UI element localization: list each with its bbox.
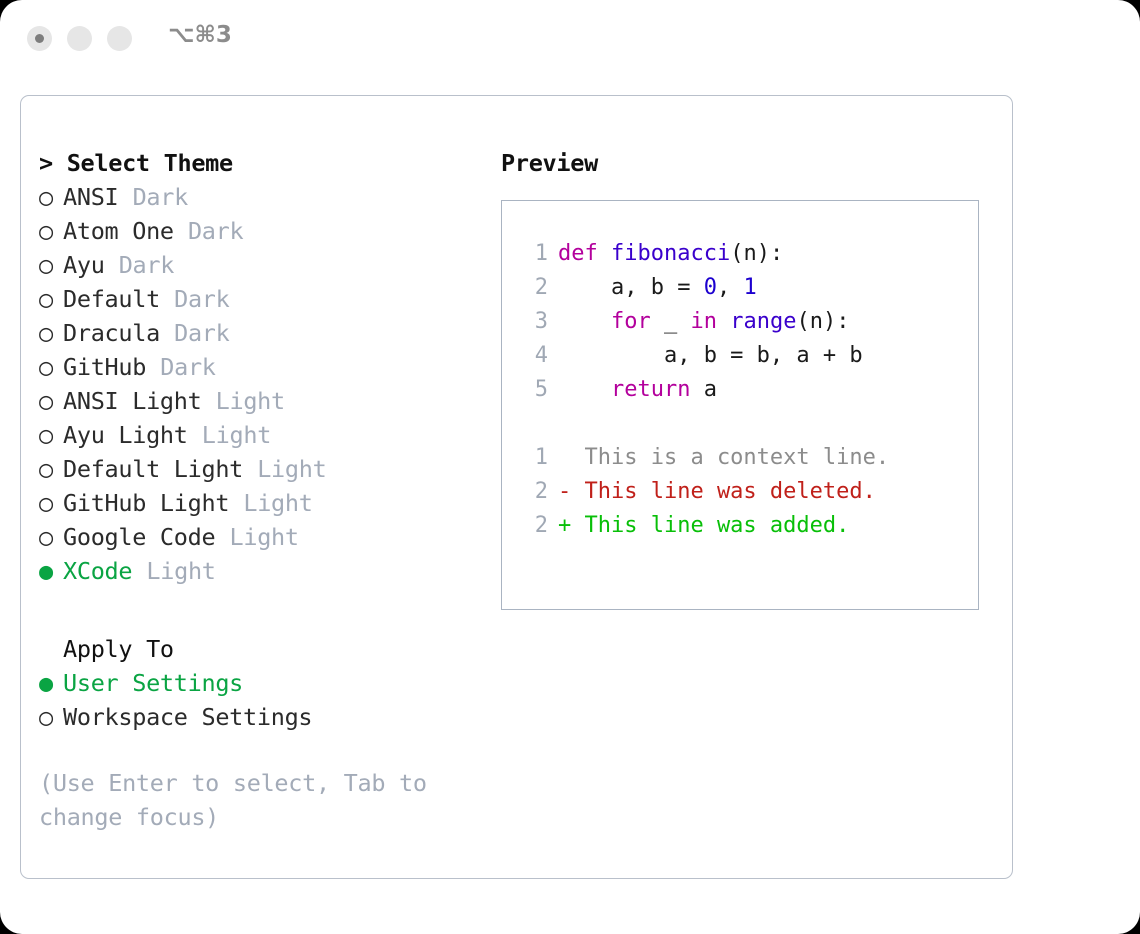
theme-name-label: Google Code bbox=[63, 523, 215, 551]
theme-list-item[interactable]: ○Default Dark bbox=[39, 282, 479, 316]
code-line: 2 a, b = 0, 1 bbox=[502, 271, 978, 305]
radio-unselected-icon[interactable]: ○ bbox=[39, 282, 63, 316]
radio-unselected-icon[interactable]: ○ bbox=[39, 350, 63, 384]
radio-unselected-icon[interactable]: ○ bbox=[39, 418, 63, 452]
window-dot-active-inner bbox=[35, 34, 44, 43]
code-token-plain: a bbox=[690, 377, 717, 402]
code-token-plain: (n): bbox=[730, 241, 783, 266]
code-token-fn: fibonacci bbox=[611, 241, 730, 266]
theme-kind-label: Dark bbox=[188, 217, 243, 245]
section-spacer bbox=[39, 588, 479, 632]
code-line: 5 return a bbox=[502, 373, 978, 407]
theme-name-label: GitHub bbox=[63, 353, 146, 381]
code-token-num: 0 bbox=[704, 275, 717, 300]
theme-kind-label: Light bbox=[243, 489, 312, 517]
spacer bbox=[146, 353, 160, 381]
line-number: 5 bbox=[520, 373, 548, 407]
apply-to-option[interactable]: ●User Settings bbox=[39, 666, 479, 700]
theme-list-item[interactable]: ○ANSI Light Light bbox=[39, 384, 479, 418]
code-token-plain: (n): bbox=[796, 309, 849, 334]
line-number: 2 bbox=[520, 475, 548, 509]
theme-name-label: Dracula bbox=[63, 319, 160, 347]
code-token-kw: in bbox=[690, 309, 717, 334]
line-number: 2 bbox=[520, 271, 548, 305]
theme-list-item[interactable]: ●XCode Light bbox=[39, 554, 479, 588]
line-number: 1 bbox=[520, 237, 548, 271]
apply-to-option-label: User Settings bbox=[63, 669, 243, 697]
spacer bbox=[132, 557, 146, 585]
theme-list-item[interactable]: ○ANSI Dark bbox=[39, 180, 479, 214]
radio-selected-icon[interactable]: ● bbox=[39, 554, 63, 588]
code-line: 1def fibonacci(n): bbox=[502, 237, 978, 271]
diff-line: 2+ This line was added. bbox=[502, 509, 978, 543]
app-window: ⌥⌘3 > Select Theme ○ANSI Dark○Atom One D… bbox=[0, 0, 1140, 934]
window-dot-active[interactable] bbox=[27, 26, 52, 51]
apply-to-header: Apply To bbox=[39, 632, 479, 666]
code-token-plain: a, b = b, a + b bbox=[558, 343, 863, 368]
theme-name-label: ANSI Light bbox=[63, 387, 201, 415]
code-token-del: - This line was deleted. bbox=[558, 479, 876, 504]
radio-unselected-icon[interactable]: ○ bbox=[39, 248, 63, 282]
theme-kind-label: Light bbox=[257, 455, 326, 483]
spacer bbox=[105, 251, 119, 279]
code-blank-line bbox=[502, 407, 978, 441]
theme-name-label: Ayu bbox=[63, 251, 105, 279]
theme-list: ○ANSI Dark○Atom One Dark○Ayu Dark○Defaul… bbox=[39, 180, 479, 588]
code-token-plain bbox=[717, 309, 730, 334]
theme-name-label: Default Light bbox=[63, 455, 243, 483]
radio-unselected-icon[interactable]: ○ bbox=[39, 384, 63, 418]
theme-name-label: Ayu Light bbox=[63, 421, 188, 449]
main-panel: > Select Theme ○ANSI Dark○Atom One Dark○… bbox=[20, 95, 1013, 879]
preview-column: Preview 1def fibonacci(n):2 a, b = 0, 13… bbox=[501, 146, 991, 610]
line-number: 3 bbox=[520, 305, 548, 339]
theme-kind-label: Dark bbox=[119, 251, 174, 279]
code-sample-block: 1def fibonacci(n):2 a, b = 0, 13 for _ i… bbox=[502, 237, 978, 407]
code-token-plain: a, b = bbox=[558, 275, 704, 300]
theme-kind-label: Light bbox=[216, 387, 285, 415]
theme-list-item[interactable]: ○Atom One Dark bbox=[39, 214, 479, 248]
theme-list-item[interactable]: ○Ayu Light Light bbox=[39, 418, 479, 452]
window-dot-third[interactable] bbox=[107, 26, 132, 51]
diff-line: 1 This is a context line. bbox=[502, 441, 978, 475]
radio-unselected-icon[interactable]: ○ bbox=[39, 316, 63, 350]
radio-unselected-icon[interactable]: ○ bbox=[39, 700, 63, 734]
keyboard-shortcut-label: ⌥⌘3 bbox=[168, 22, 232, 48]
code-token-kw: def bbox=[558, 241, 611, 266]
spacer bbox=[160, 285, 174, 313]
spacer bbox=[174, 217, 188, 245]
spacer bbox=[201, 387, 215, 415]
code-token-ctx: This is a context line. bbox=[558, 445, 889, 470]
theme-kind-label: Dark bbox=[133, 183, 188, 211]
radio-unselected-icon[interactable]: ○ bbox=[39, 214, 63, 248]
theme-list-item[interactable]: ○GitHub Light Light bbox=[39, 486, 479, 520]
code-token-kw: return bbox=[611, 377, 690, 402]
radio-unselected-icon[interactable]: ○ bbox=[39, 486, 63, 520]
theme-list-item[interactable]: ○Default Light Light bbox=[39, 452, 479, 486]
theme-kind-label: Light bbox=[202, 421, 271, 449]
apply-to-list: ●User Settings○Workspace Settings bbox=[39, 666, 479, 734]
theme-name-label: Default bbox=[63, 285, 160, 313]
radio-unselected-icon[interactable]: ○ bbox=[39, 180, 63, 214]
theme-kind-label: Light bbox=[146, 557, 215, 585]
title-bar: ⌥⌘3 bbox=[0, 0, 1140, 78]
select-theme-header: > Select Theme bbox=[39, 146, 479, 180]
line-number: 1 bbox=[520, 441, 548, 475]
theme-name-label: XCode bbox=[63, 557, 132, 585]
theme-list-item[interactable]: ○GitHub Dark bbox=[39, 350, 479, 384]
code-token-plain: , bbox=[717, 275, 744, 300]
theme-picker-column: > Select Theme ○ANSI Dark○Atom One Dark○… bbox=[39, 146, 479, 834]
preview-box: 1def fibonacci(n):2 a, b = 0, 13 for _ i… bbox=[501, 200, 979, 610]
theme-kind-label: Dark bbox=[174, 285, 229, 313]
preview-header: Preview bbox=[501, 146, 991, 180]
spacer bbox=[118, 183, 132, 211]
theme-kind-label: Light bbox=[230, 523, 299, 551]
code-token-fn: range bbox=[730, 309, 796, 334]
radio-unselected-icon[interactable]: ○ bbox=[39, 452, 63, 486]
theme-name-label: GitHub Light bbox=[63, 489, 229, 517]
theme-list-item[interactable]: ○Google Code Light bbox=[39, 520, 479, 554]
code-token-plain bbox=[558, 309, 611, 334]
apply-to-option-label: Workspace Settings bbox=[63, 703, 312, 731]
diff-sample-block: 1 This is a context line.2- This line wa… bbox=[502, 441, 978, 543]
spacer bbox=[188, 421, 202, 449]
code-line: 4 a, b = b, a + b bbox=[502, 339, 978, 373]
theme-list-item[interactable]: ○Ayu Dark bbox=[39, 248, 479, 282]
diff-line: 2- This line was deleted. bbox=[502, 475, 978, 509]
spacer bbox=[229, 489, 243, 517]
keyboard-hint-text: (Use Enter to select, Tab to change focu… bbox=[39, 766, 449, 834]
line-number: 2 bbox=[520, 509, 548, 543]
code-token-add: + This line was added. bbox=[558, 513, 849, 538]
code-line: 3 for _ in range(n): bbox=[502, 305, 978, 339]
theme-list-item[interactable]: ○Dracula Dark bbox=[39, 316, 479, 350]
spacer bbox=[215, 523, 229, 551]
theme-name-label: ANSI bbox=[63, 183, 118, 211]
code-token-plain: _ bbox=[651, 309, 691, 334]
theme-kind-label: Dark bbox=[174, 319, 229, 347]
radio-selected-icon[interactable]: ● bbox=[39, 666, 63, 700]
code-token-num: 1 bbox=[743, 275, 756, 300]
apply-to-option[interactable]: ○Workspace Settings bbox=[39, 700, 479, 734]
radio-unselected-icon[interactable]: ○ bbox=[39, 520, 63, 554]
window-dot-second[interactable] bbox=[67, 26, 92, 51]
theme-kind-label: Dark bbox=[160, 353, 215, 381]
code-token-kw: for bbox=[611, 309, 651, 334]
spacer bbox=[160, 319, 174, 347]
code-token-plain bbox=[558, 377, 611, 402]
line-number: 4 bbox=[520, 339, 548, 373]
spacer bbox=[243, 455, 257, 483]
theme-name-label: Atom One bbox=[63, 217, 174, 245]
